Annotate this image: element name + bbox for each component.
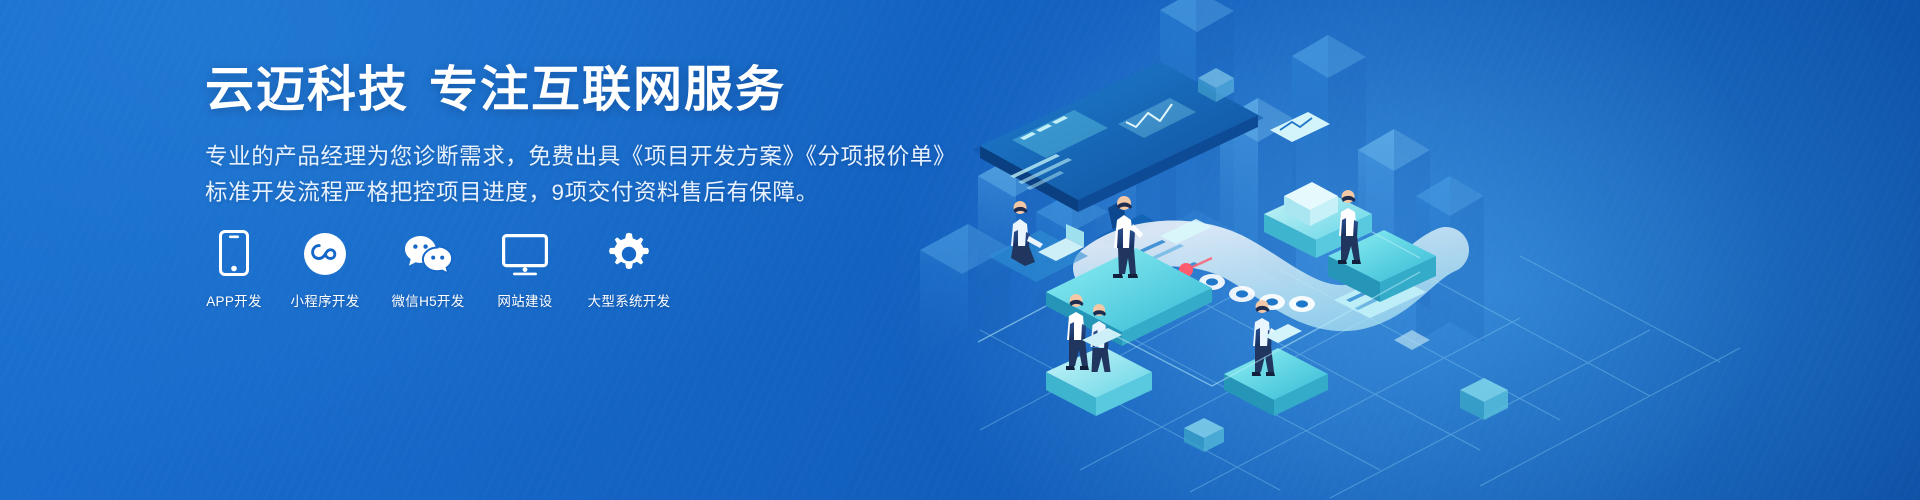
service-label: 大型系统开发 (588, 290, 671, 310)
wechat-bubbles-icon (402, 228, 454, 276)
service-item-website[interactable]: 网站建设 (492, 228, 558, 310)
mini-program-icon (303, 228, 347, 276)
service-label: 小程序开发 (291, 290, 360, 310)
service-label: APP开发 (206, 290, 262, 310)
service-list: APP开发 小程序开发 (205, 228, 677, 310)
service-item-wechat-h5[interactable]: 微信H5开发 (387, 228, 469, 310)
service-item-large-system[interactable]: 大型系统开发 (581, 228, 677, 310)
headline-tagline: 专注互联网服务 (429, 63, 786, 117)
service-label: 微信H5开发 (391, 290, 464, 310)
service-item-miniprogram[interactable]: 小程序开发 (286, 228, 364, 310)
service-label: 网站建设 (497, 290, 552, 310)
mobile-phone-icon (219, 228, 249, 276)
desktop-monitor-icon (502, 228, 548, 276)
isometric-tech-team-illustration (860, 0, 1920, 500)
headline-brand: 云迈科技 (205, 63, 409, 117)
hero-banner: 云迈科技专注互联网服务 专业的产品经理为您诊断需求，免费出具《项目开发方案》《分… (0, 0, 1920, 500)
gear-icon (607, 228, 651, 276)
service-item-app[interactable]: APP开发 (205, 228, 263, 310)
